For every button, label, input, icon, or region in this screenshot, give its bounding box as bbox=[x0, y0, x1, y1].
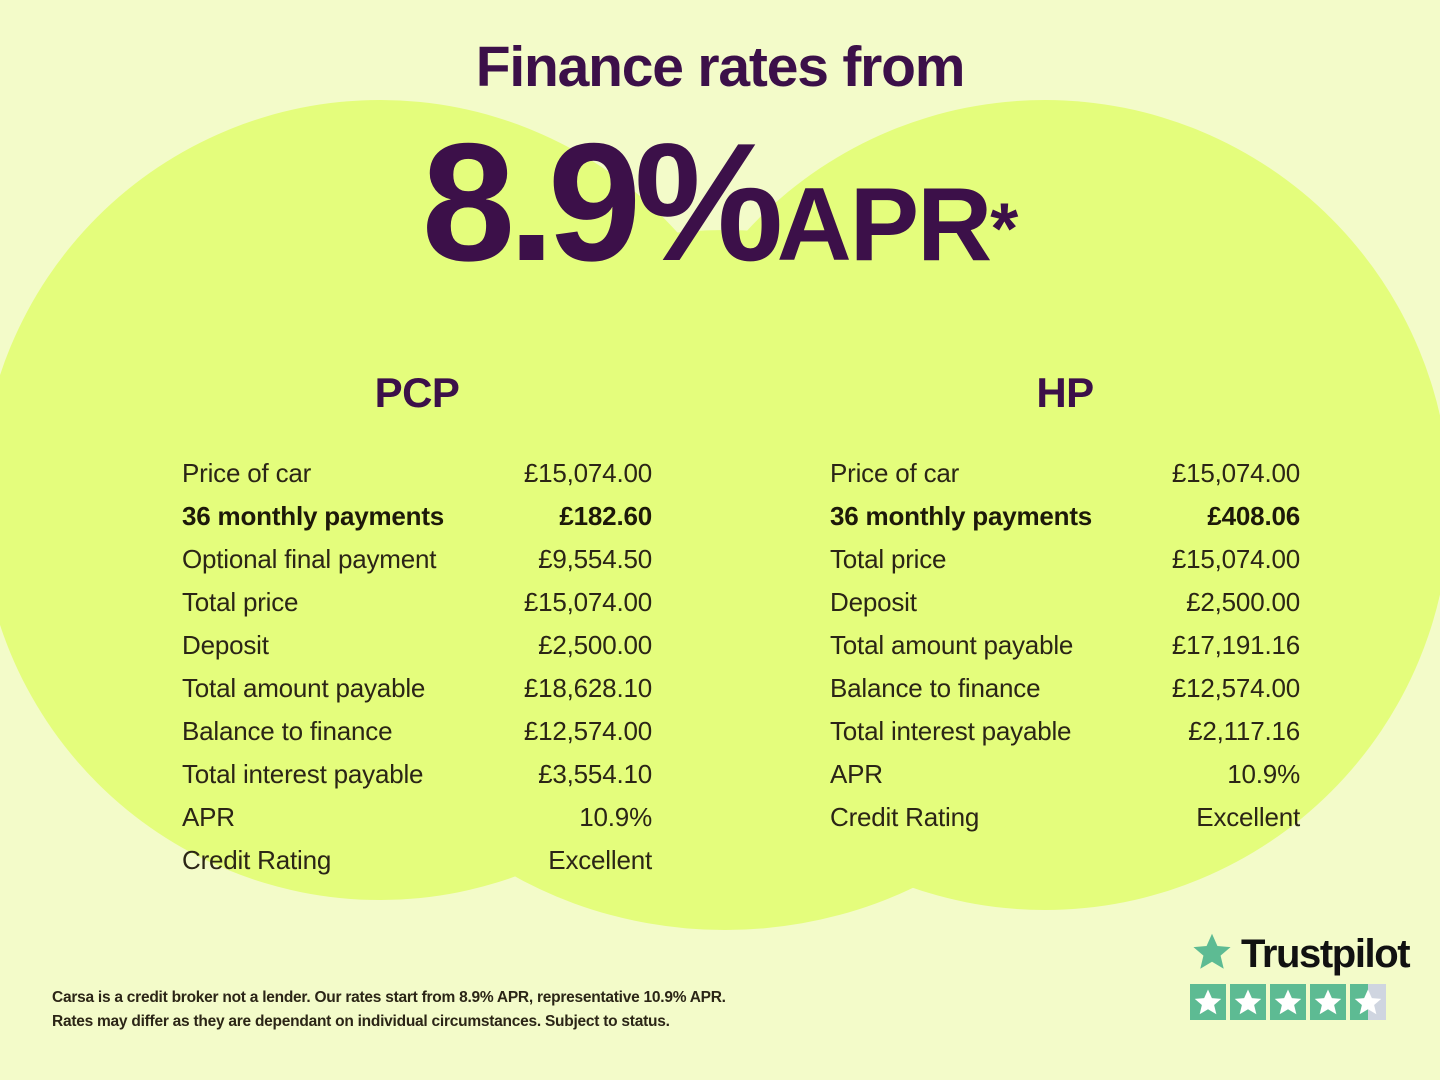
finance-row: Price of car£15,074.00 bbox=[182, 460, 652, 486]
headline-rate-unit: APR bbox=[777, 167, 991, 283]
promo-graphic: Finance rates from 8.9%APR* PCP Price of… bbox=[0, 0, 1440, 1080]
pcp-column: PCP Price of car£15,074.0036 monthly pay… bbox=[182, 372, 652, 890]
headline-rate-number: 8.9% bbox=[422, 108, 777, 296]
finance-row-label: Deposit bbox=[182, 632, 269, 658]
finance-row-label: APR bbox=[182, 804, 235, 830]
finance-row: Balance to finance£12,574.00 bbox=[182, 718, 652, 744]
finance-row-value: £15,074.00 bbox=[524, 460, 652, 486]
finance-row: Deposit£2,500.00 bbox=[830, 589, 1300, 615]
finance-row-label: Total interest payable bbox=[182, 761, 423, 787]
finance-row-value: £2,500.00 bbox=[1186, 589, 1300, 615]
trustpilot-star-filled-icon bbox=[1190, 984, 1226, 1020]
finance-row-label: Optional final payment bbox=[182, 546, 436, 572]
finance-row-value: £15,074.00 bbox=[1172, 460, 1300, 486]
finance-row-label: Credit Rating bbox=[830, 804, 979, 830]
page-title: Finance rates from bbox=[0, 38, 1440, 98]
disclaimer: Carsa is a credit broker not a lender. O… bbox=[52, 986, 812, 1034]
finance-row-value: Excellent bbox=[548, 847, 652, 873]
finance-row-label: Total price bbox=[830, 546, 946, 572]
disclaimer-line-2: Rates may differ as they are dependant o… bbox=[52, 1010, 812, 1034]
trustpilot-badge[interactable]: Trustpilot bbox=[1190, 930, 1395, 1020]
headline-rate: 8.9%APR* bbox=[0, 118, 1440, 286]
finance-row-label: Total amount payable bbox=[182, 675, 425, 701]
trustpilot-star-filled-icon bbox=[1230, 984, 1266, 1020]
finance-row-value: £15,074.00 bbox=[524, 589, 652, 615]
finance-row-label: Price of car bbox=[182, 460, 311, 486]
finance-row-value: £17,191.16 bbox=[1172, 632, 1300, 658]
finance-row-label: APR bbox=[830, 761, 883, 787]
finance-row-value: £12,574.00 bbox=[524, 718, 652, 744]
finance-row-label: Balance to finance bbox=[182, 718, 392, 744]
finance-row-label: 36 monthly payments bbox=[182, 503, 444, 529]
trustpilot-star-filled-icon bbox=[1310, 984, 1346, 1020]
trustpilot-wordmark: Trustpilot bbox=[1190, 930, 1395, 978]
pcp-rows: Price of car£15,074.0036 monthly payment… bbox=[182, 460, 652, 873]
hp-rows: Price of car£15,074.0036 monthly payment… bbox=[830, 460, 1300, 830]
finance-row: Price of car£15,074.00 bbox=[830, 460, 1300, 486]
finance-row-value: 10.9% bbox=[1227, 761, 1300, 787]
finance-row-label: 36 monthly payments bbox=[830, 503, 1092, 529]
finance-row-value: £2,117.16 bbox=[1188, 718, 1300, 744]
finance-row: Total interest payable£3,554.10 bbox=[182, 761, 652, 787]
finance-row-label: Total amount payable bbox=[830, 632, 1073, 658]
finance-row-label: Price of car bbox=[830, 460, 959, 486]
finance-row: APR10.9% bbox=[182, 804, 652, 830]
finance-row-label: Deposit bbox=[830, 589, 917, 615]
trustpilot-rating bbox=[1190, 984, 1395, 1020]
finance-row: Credit RatingExcellent bbox=[182, 847, 652, 873]
finance-row: Deposit£2,500.00 bbox=[182, 632, 652, 658]
finance-row: Total interest payable£2,117.16 bbox=[830, 718, 1300, 744]
finance-row: Total amount payable£17,191.16 bbox=[830, 632, 1300, 658]
finance-row: Balance to finance£12,574.00 bbox=[830, 675, 1300, 701]
hp-column: HP Price of car£15,074.0036 monthly paym… bbox=[830, 372, 1300, 847]
trustpilot-star-icon bbox=[1190, 931, 1234, 978]
finance-row-value: £3,554.10 bbox=[538, 761, 652, 787]
finance-row-value: 10.9% bbox=[579, 804, 652, 830]
trustpilot-brand-label: Trustpilot bbox=[1241, 934, 1409, 974]
finance-row: Credit RatingExcellent bbox=[830, 804, 1300, 830]
finance-row-label: Credit Rating bbox=[182, 847, 331, 873]
finance-row-label: Total interest payable bbox=[830, 718, 1071, 744]
finance-row: Total amount payable£18,628.10 bbox=[182, 675, 652, 701]
finance-row: Optional final payment£9,554.50 bbox=[182, 546, 652, 572]
finance-row: 36 monthly payments£408.06 bbox=[830, 503, 1300, 529]
trustpilot-star-half-icon bbox=[1350, 984, 1386, 1020]
hp-column-title: HP bbox=[830, 372, 1300, 414]
finance-row-value: £12,574.00 bbox=[1172, 675, 1300, 701]
finance-row: 36 monthly payments£182.60 bbox=[182, 503, 652, 529]
finance-row-value: £182.60 bbox=[559, 503, 652, 529]
finance-row-value: Excellent bbox=[1196, 804, 1300, 830]
finance-row-label: Balance to finance bbox=[830, 675, 1040, 701]
finance-row: Total price£15,074.00 bbox=[182, 589, 652, 615]
finance-row-value: £15,074.00 bbox=[1172, 546, 1300, 572]
disclaimer-line-1: Carsa is a credit broker not a lender. O… bbox=[52, 986, 812, 1010]
finance-row: APR10.9% bbox=[830, 761, 1300, 787]
footnote-marker-icon: * bbox=[990, 190, 1018, 270]
finance-row-value: £408.06 bbox=[1207, 503, 1300, 529]
finance-row-value: £2,500.00 bbox=[538, 632, 652, 658]
pcp-column-title: PCP bbox=[182, 372, 652, 414]
finance-row-label: Total price bbox=[182, 589, 298, 615]
finance-row: Total price£15,074.00 bbox=[830, 546, 1300, 572]
finance-row-value: £18,628.10 bbox=[524, 675, 652, 701]
finance-row-value: £9,554.50 bbox=[538, 546, 652, 572]
trustpilot-star-filled-icon bbox=[1270, 984, 1306, 1020]
